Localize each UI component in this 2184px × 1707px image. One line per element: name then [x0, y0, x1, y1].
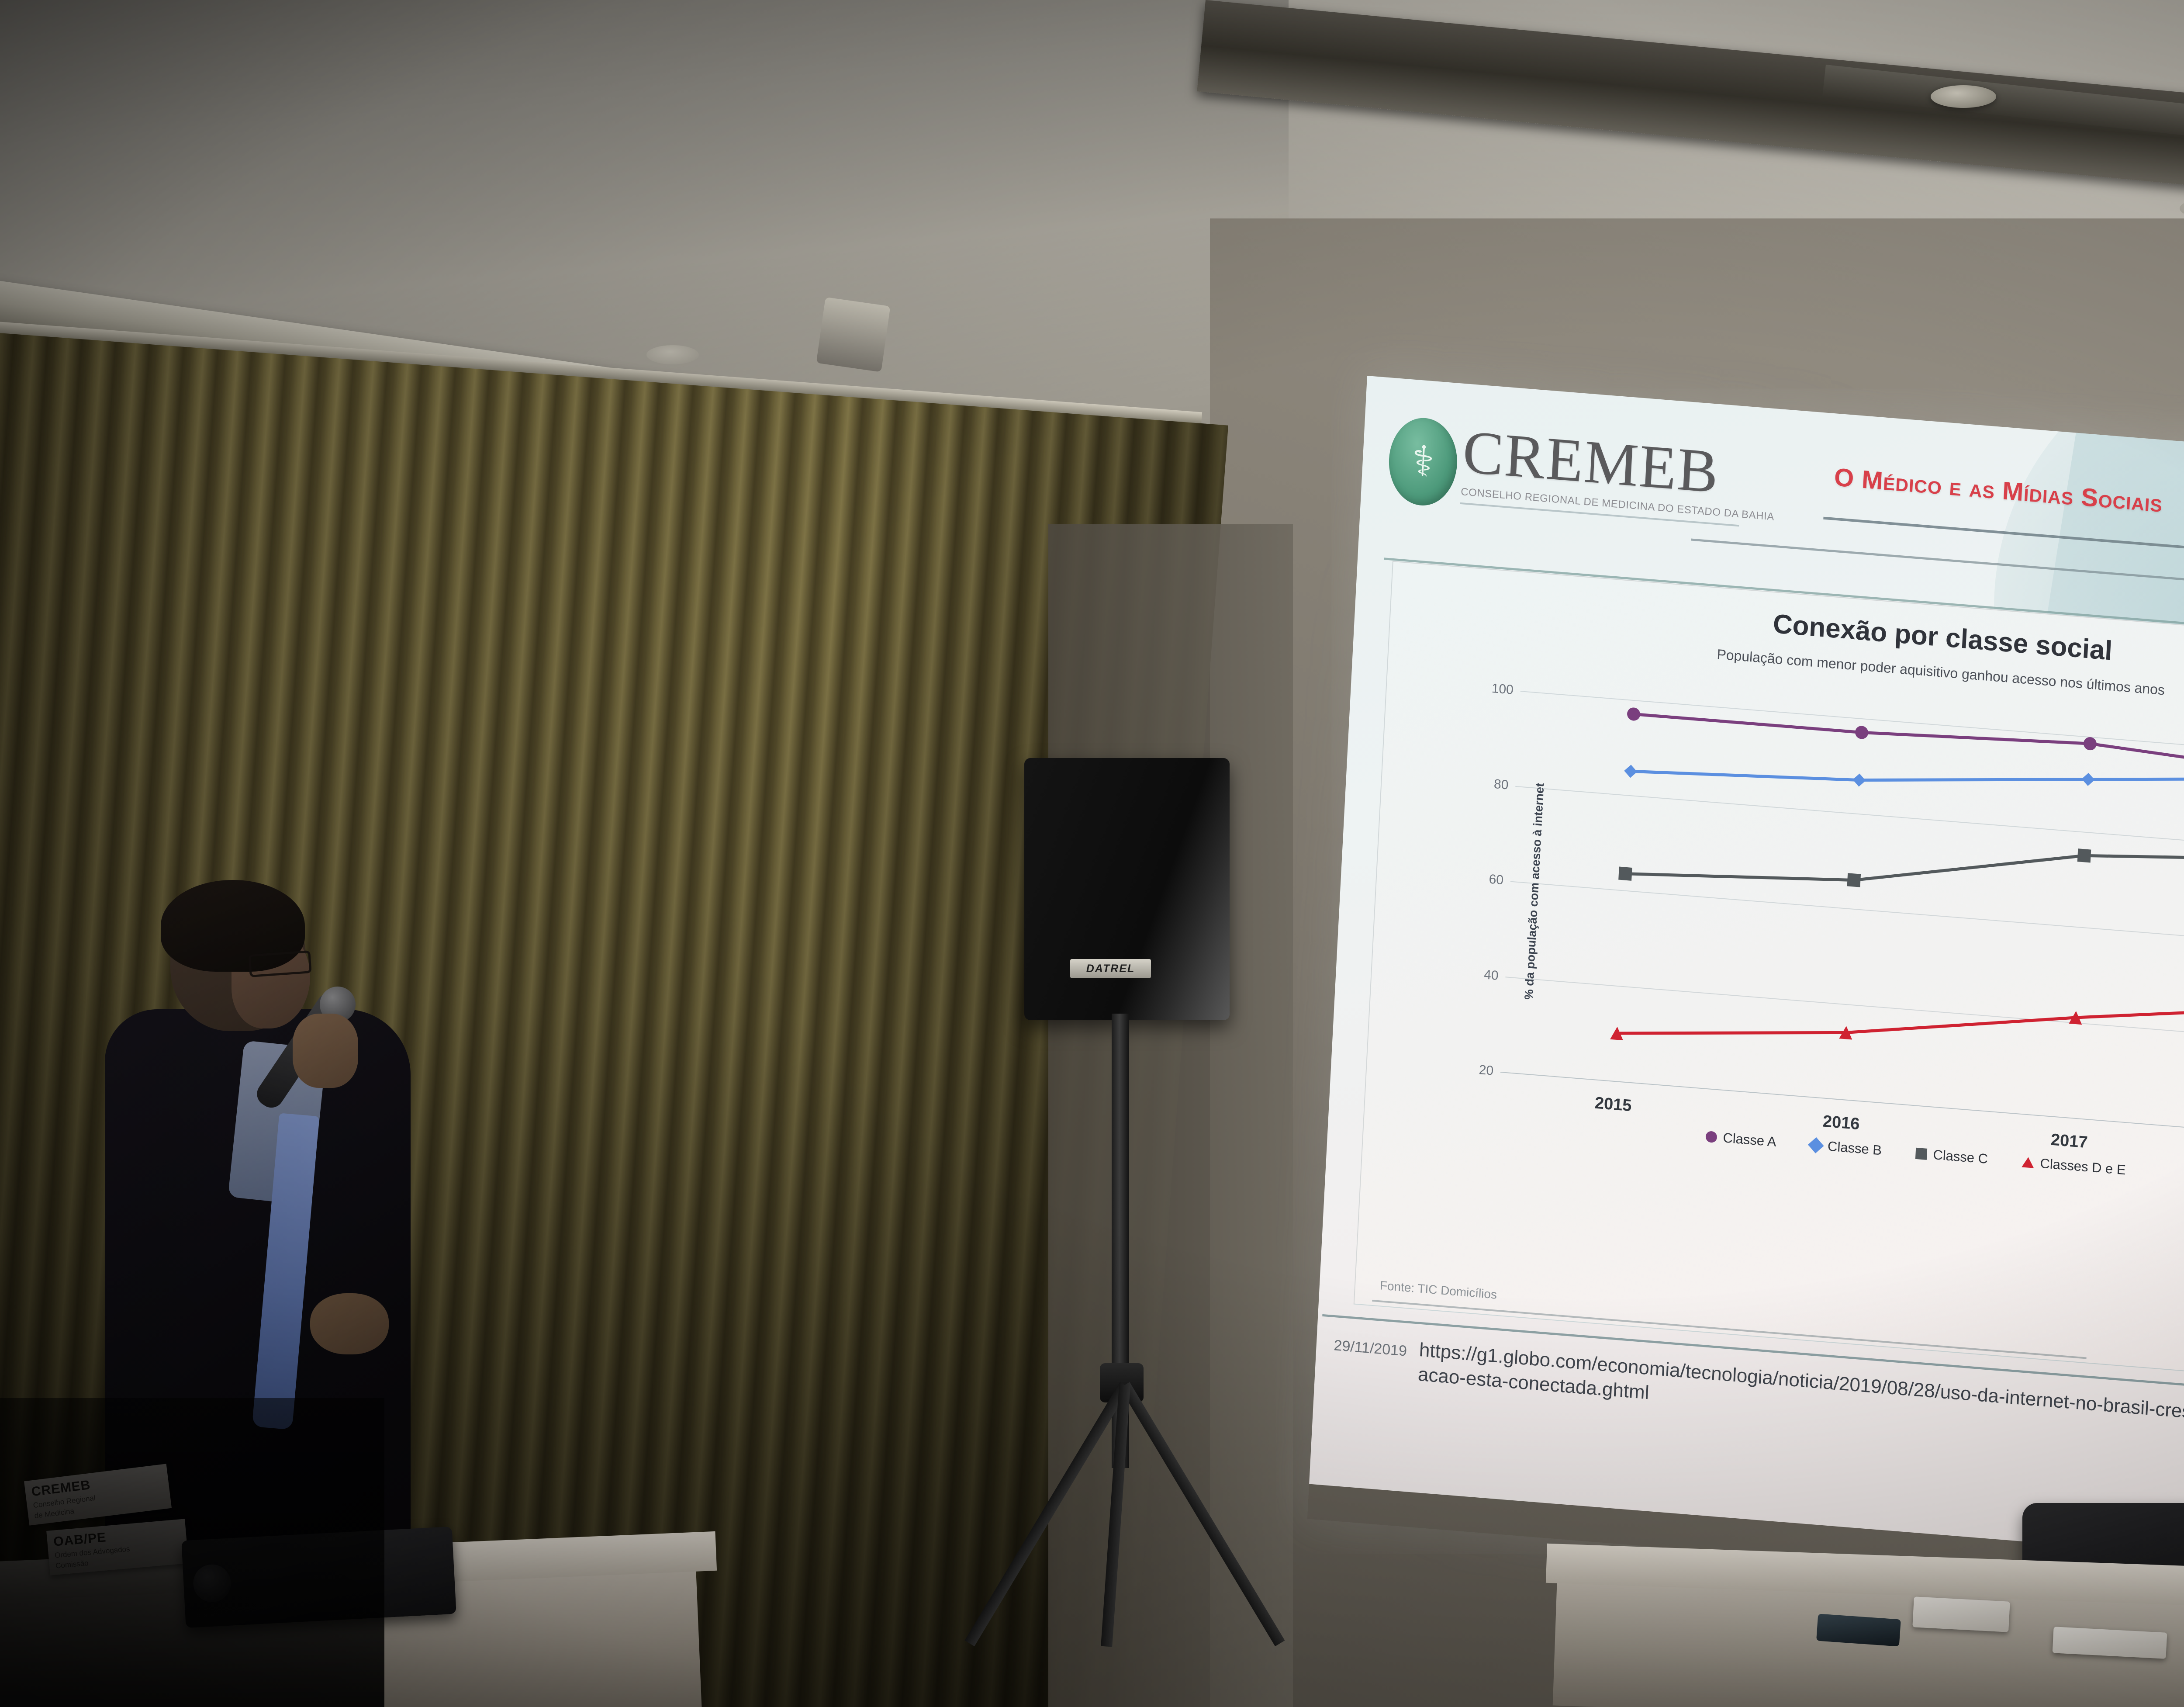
caduceus-seal-icon: ⚕ [1387, 415, 1459, 508]
ceiling-spotlight [1931, 85, 1996, 108]
data-point [1852, 773, 1866, 787]
chart-series-layer [1500, 667, 2184, 1145]
legend-label: Classe A [1723, 1130, 1777, 1150]
photo-scene: ⚕ CREMEB CONSELHO REGIONAL DE MEDICINA D… [0, 0, 2184, 1707]
data-point [1624, 764, 1637, 778]
legend-marker-icon [1915, 1148, 1927, 1160]
x-axis-tick: 2017 [2050, 1131, 2088, 1153]
header-rule-top [1823, 517, 2184, 578]
legend-label: Classe B [1827, 1139, 1882, 1159]
legend-item[interactable]: Classe C [1915, 1146, 1988, 1167]
presenter-hand-holding-mic [293, 1014, 358, 1088]
plot-area: 204060801002015201620172018 [1500, 667, 2184, 1145]
legend-marker-icon [2022, 1156, 2034, 1168]
cremeb-logo: ⚕ CREMEB CONSELHO REGIONAL DE MEDICINA D… [1387, 415, 1778, 534]
legend-label: Classes D e E [2040, 1156, 2126, 1178]
y-axis-tick: 20 [1458, 1061, 1494, 1078]
chart-source: Fonte: TIC Domicílios [1379, 1278, 1497, 1302]
y-axis-tick: 100 [1478, 680, 1514, 697]
series-line-classe-c [1625, 805, 2184, 929]
ceiling-fixture-dot [646, 345, 699, 364]
legend-label: Classe C [1933, 1147, 1988, 1167]
data-point [2081, 772, 2095, 786]
series-line-classes-d-e-e [1617, 952, 2184, 1088]
smartphone [1816, 1614, 1901, 1646]
x-axis-tick: 2015 [1594, 1094, 1632, 1116]
data-point [2077, 848, 2091, 862]
data-point [1627, 707, 1640, 721]
legend-item[interactable]: Classe A [1705, 1129, 1777, 1150]
foreground-shadow [0, 1398, 384, 1707]
legend-item[interactable]: Classes D e E [2022, 1154, 2126, 1178]
data-point [1618, 867, 1632, 881]
presenter-gesturing-hand [310, 1293, 389, 1354]
y-axis-tick: 80 [1473, 775, 1509, 793]
slide-kicker: O Médico e as Mídias Sociais [1834, 462, 2163, 518]
slide: ⚕ CREMEB CONSELHO REGIONAL DE MEDICINA D… [1309, 376, 2184, 1580]
y-axis-tick: 60 [1468, 870, 1504, 888]
projection-screen: ⚕ CREMEB CONSELHO REGIONAL DE MEDICINA D… [1307, 376, 2184, 1616]
eyeglasses-icon [248, 950, 311, 977]
cremeb-text-block: CREMEB CONSELHO REGIONAL DE MEDICINA DO … [1460, 421, 1778, 529]
legend-marker-icon [1808, 1137, 1824, 1153]
data-point [1855, 725, 1868, 739]
footer-date: 29/11/2019 [1334, 1331, 1408, 1360]
pa-speaker-cabinet: DATREL [1024, 758, 1230, 1020]
wall-column [1048, 524, 1293, 1707]
legend-marker-icon [1705, 1131, 1717, 1143]
pa-speaker-brand-label: DATREL [1086, 963, 1135, 975]
light-rail-end-cap [816, 297, 891, 372]
chart-legend: Classe AClasse BClasse CClasses D e E [1417, 1105, 2184, 1201]
legend-item[interactable]: Classe B [1810, 1137, 1882, 1158]
pa-speaker-brand-badge: DATREL [1070, 959, 1151, 978]
series-line-classe-b [1631, 724, 2184, 826]
y-axis-tick: 40 [1463, 966, 1499, 983]
seal-glyph: ⚕ [1410, 440, 1435, 484]
chart-card: Conexão por classe social População com … [1354, 561, 2184, 1393]
x-axis-tick: 2016 [1822, 1112, 1860, 1134]
table-document [1912, 1596, 2010, 1632]
series-line-classe-a [1633, 707, 2184, 776]
data-point [2083, 737, 2097, 751]
data-point [1847, 873, 1861, 887]
chart-plot: % da população com acesso à internet 204… [1417, 660, 2184, 1185]
